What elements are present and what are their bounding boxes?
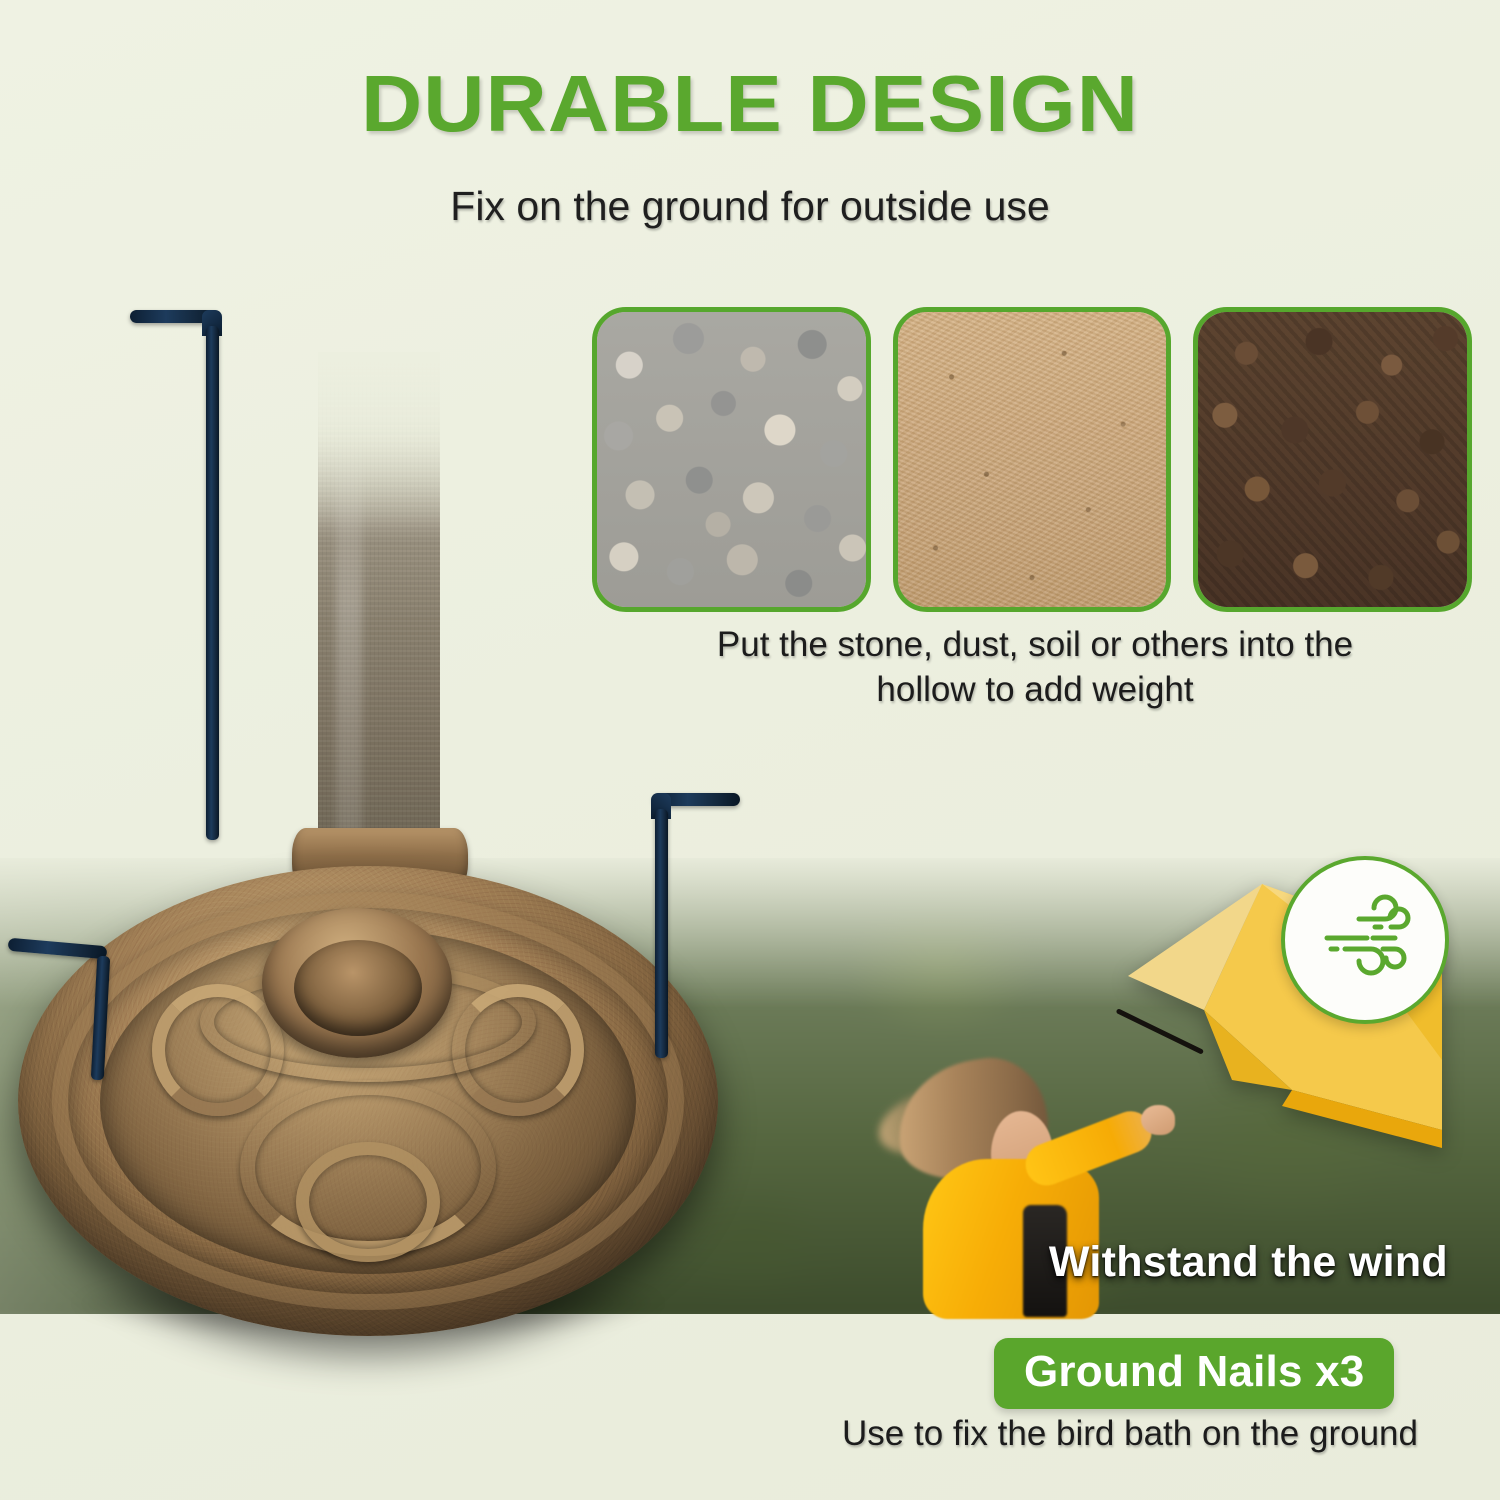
- nail-shaft: [91, 956, 110, 1081]
- nail-shaft: [206, 326, 219, 840]
- page-subtitle: Fix on the ground for outside use: [0, 183, 1500, 230]
- product-feature-banner: DURABLE DESIGN Fix on the ground for out…: [0, 0, 1500, 1500]
- pole-top-fade: [318, 352, 440, 542]
- ground-nails-badge: Ground Nails x3: [994, 1338, 1394, 1409]
- ground-nails-subtext: Use to fix the bird bath on the ground: [760, 1414, 1500, 1454]
- swatch-dust: [893, 307, 1172, 612]
- ornate-cast-base: [18, 848, 718, 1368]
- bird-bath-pole: [318, 352, 440, 872]
- fill-material-swatches: [592, 307, 1472, 612]
- fill-material-caption: Put the stone, dust, soil or others into…: [620, 623, 1450, 713]
- sand-texture: [898, 312, 1167, 607]
- swatch-soil: [1193, 307, 1472, 612]
- soil-texture: [1198, 312, 1467, 607]
- ground-nail-2: [645, 793, 740, 1058]
- scroll-ring-center: [296, 1142, 440, 1262]
- scroll-curl-right: [452, 984, 584, 1116]
- caption-line-1: Put the stone, dust, soil or others into…: [620, 623, 1450, 668]
- ground-nail-3: [8, 942, 116, 1080]
- caption-line-2: hollow to add weight: [620, 668, 1450, 713]
- wind-icon: [1309, 884, 1421, 996]
- scroll-curl-left: [152, 984, 284, 1116]
- swatch-stone: [592, 307, 871, 612]
- gravel-texture: [597, 312, 866, 607]
- withstand-wind-caption: Withstand the wind: [700, 1238, 1490, 1287]
- wind-badge: [1281, 856, 1449, 1024]
- nail-shaft: [655, 809, 668, 1058]
- ground-nail-1: [130, 310, 230, 840]
- base-hub-inner: [294, 940, 422, 1036]
- page-title: DURABLE DESIGN: [0, 62, 1500, 146]
